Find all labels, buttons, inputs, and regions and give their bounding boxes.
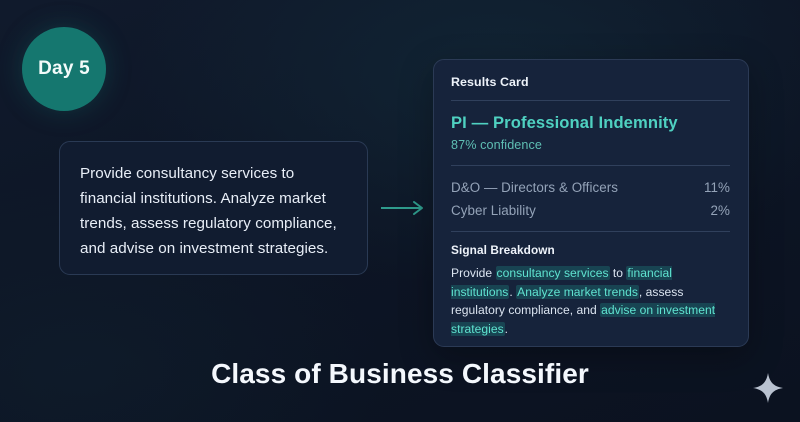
signal-breakdown-title: Signal Breakdown <box>451 243 730 257</box>
signal-plain-text: to <box>610 266 627 280</box>
primary-classification: PI — Professional Indemnity 87% confiden… <box>451 113 730 152</box>
alternative-classification-row: Cyber Liability2% <box>451 199 730 222</box>
primary-class-label: PI — Professional Indemnity <box>451 113 730 133</box>
signal-breakdown-section: Signal Breakdown Provide consultancy ser… <box>451 243 730 338</box>
sparkle-icon <box>752 372 784 404</box>
alternative-classification-row: D&O — Directors & Officers11% <box>451 176 730 199</box>
signal-plain-text: . <box>505 322 508 336</box>
primary-confidence-value: 87% confidence <box>451 138 730 152</box>
signal-highlight: Analyze market trends <box>516 285 639 299</box>
arrow-right-icon <box>381 200 429 216</box>
day-badge: Day 5 <box>22 27 106 111</box>
slide-canvas: Day 5 Provide consultancy services to fi… <box>0 0 800 422</box>
page-title: Class of Business Classifier <box>0 358 800 390</box>
results-card-title: Results Card <box>451 75 730 89</box>
card-divider-top <box>451 100 730 101</box>
day-badge-label: Day 5 <box>38 58 90 80</box>
signal-plain-text: Provide <box>451 266 496 280</box>
card-divider-bottom <box>451 231 730 232</box>
alternative-class-label: D&O — Directors & Officers <box>451 180 618 195</box>
card-divider-middle <box>451 165 730 166</box>
alternative-class-percent: 2% <box>711 203 730 218</box>
signal-highlight: consultancy services <box>496 266 610 280</box>
signal-breakdown-text: Provide consultancy services to financia… <box>451 264 730 338</box>
alternative-class-percent: 11% <box>704 180 730 195</box>
alternative-classifications-list: D&O — Directors & Officers11%Cyber Liabi… <box>451 176 730 222</box>
prompt-text: Provide consultancy services to financia… <box>80 161 346 261</box>
results-card: Results Card PI — Professional Indemnity… <box>433 59 749 347</box>
prompt-input-box[interactable]: Provide consultancy services to financia… <box>59 141 368 275</box>
alternative-class-label: Cyber Liability <box>451 203 536 218</box>
